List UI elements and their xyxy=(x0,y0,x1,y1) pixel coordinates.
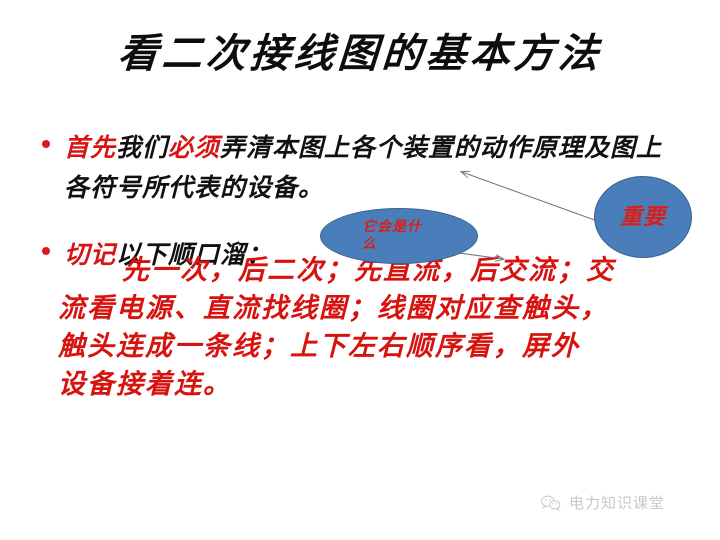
round-bullet-icon xyxy=(42,247,50,255)
watermark-label: 电力知识课堂 xyxy=(569,492,665,513)
rhyme-line-4: 设备接着连。 xyxy=(58,366,688,404)
slide-canvas: 看二次接线图的基本方法 首先我们必须弄清本图上各个装置的动作原理及图上各符号所代… xyxy=(0,0,720,540)
rhyme-block: 先一次，后二次；先直流，后交流；交 流看电源、直流找线圈；线圈对应查触头， 触头… xyxy=(58,252,688,404)
rhyme-line-3: 触头连成一条线；上下左右顺序看，屏外 xyxy=(58,328,688,366)
bullet-1-text-1: 我们 xyxy=(116,133,168,162)
bullet-1-paragraph: 首先我们必须弄清本图上各个装置的动作原理及图上各符号所代表的设备。 xyxy=(64,128,684,208)
bullet-1-emph-1: 首先 xyxy=(64,133,116,162)
wechat-icon xyxy=(540,494,562,512)
important-ellipse-label: 重要 xyxy=(620,205,666,229)
bullet-row: 首先我们必须弄清本图上各个装置的动作原理及图上各符号所代表的设备。 xyxy=(36,128,684,208)
page-title: 看二次接线图的基本方法 xyxy=(0,32,720,76)
watermark: 电力知识课堂 xyxy=(540,492,665,513)
question-ellipse-label: 它会是什么 xyxy=(362,219,436,253)
bullet-item-1: 首先我们必须弄清本图上各个装置的动作原理及图上各符号所代表的设备。 xyxy=(36,128,684,208)
important-ellipse-callout: 重要 xyxy=(594,176,692,258)
round-bullet-icon xyxy=(42,140,50,148)
rhyme-line-2: 流看电源、直流找线圈；线圈对应查触头， xyxy=(58,290,688,328)
question-ellipse-callout: 它会是什么 xyxy=(320,208,478,264)
bullet-1-emph-2: 必须 xyxy=(168,133,220,162)
